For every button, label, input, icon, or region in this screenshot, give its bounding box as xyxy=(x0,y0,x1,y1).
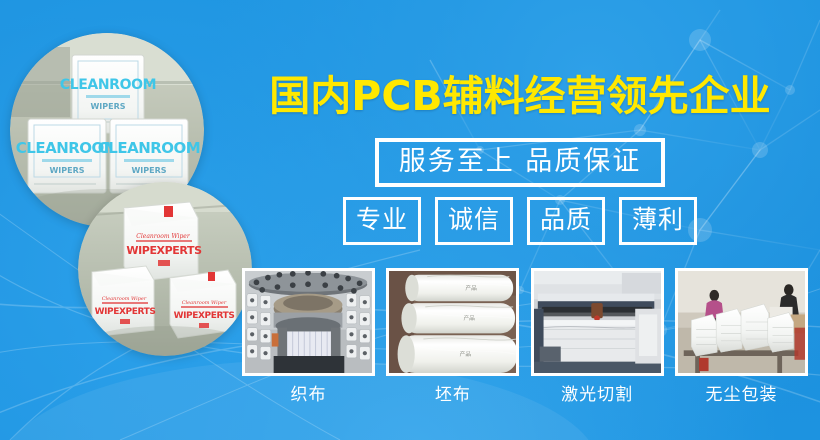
svg-text:WIPEXPERTS: WIPEXPERTS xyxy=(126,244,202,257)
svg-text:WIPEXPERTS: WIPEXPERTS xyxy=(95,307,156,317)
process-caption-greige-fabric: 坯布 xyxy=(386,384,519,406)
process-caption-laser-cutting: 激光切割 xyxy=(531,384,664,406)
knitting-machine-photo xyxy=(242,268,375,376)
keyword-tag-professional[interactable]: 专业 xyxy=(343,197,421,245)
promotional-banner: CLEANROOM WIPERS CLEANROOM WIPERS xyxy=(0,0,820,440)
keyword-tag-integrity[interactable]: 诚信 xyxy=(435,197,513,245)
svg-text:CLEANROOM: CLEANROOM xyxy=(60,77,156,93)
keyword-tag-low-margin[interactable]: 薄利 xyxy=(619,197,697,245)
svg-text:产品: 产品 xyxy=(466,284,478,292)
process-caption-weaving: 织布 xyxy=(242,384,375,406)
product-photo-wipexperts: Cleanroom Wiper WIPEXPERTS Cleanroom Wip… xyxy=(78,182,252,356)
laser-cutter-photo xyxy=(531,268,664,376)
svg-text:WIPERS: WIPERS xyxy=(90,102,125,111)
svg-text:WIPERS: WIPERS xyxy=(49,166,84,175)
cleanroom-packaging-photo xyxy=(675,268,808,376)
process-item-weaving[interactable]: 织布 xyxy=(242,268,375,406)
process-photo-strip: 织布 xyxy=(242,268,808,406)
process-item-laser-cutting[interactable]: 激光切割 xyxy=(531,268,664,406)
process-item-greige-fabric[interactable]: 产品 产品 产品 xyxy=(386,268,519,406)
keyword-tag-list: 专业 诚信 品质 薄利 xyxy=(240,197,800,245)
svg-text:CLEANROOM: CLEANROOM xyxy=(98,139,200,157)
slogan-container: 服务至上 品质保证 xyxy=(240,138,800,187)
banner-headline: 国内PCB辅料经营领先企业 xyxy=(240,72,800,120)
process-item-cleanroom-packaging[interactable]: 无尘包装 xyxy=(675,268,808,406)
svg-text:Cleanroom Wiper: Cleanroom Wiper xyxy=(102,296,147,302)
process-caption-cleanroom-packaging: 无尘包装 xyxy=(675,384,808,406)
fabric-rolls-photo: 产品 产品 产品 xyxy=(386,268,519,376)
svg-text:产品: 产品 xyxy=(464,314,476,322)
svg-text:Cleanroom Wiper: Cleanroom Wiper xyxy=(182,300,227,306)
keyword-tag-quality[interactable]: 品质 xyxy=(527,197,605,245)
slogan-box: 服务至上 品质保证 xyxy=(375,138,666,187)
svg-text:WIPERS: WIPERS xyxy=(131,166,166,175)
svg-text:Cleanroom Wiper: Cleanroom Wiper xyxy=(136,233,191,240)
svg-text:WIPEXPERTS: WIPEXPERTS xyxy=(174,311,235,321)
